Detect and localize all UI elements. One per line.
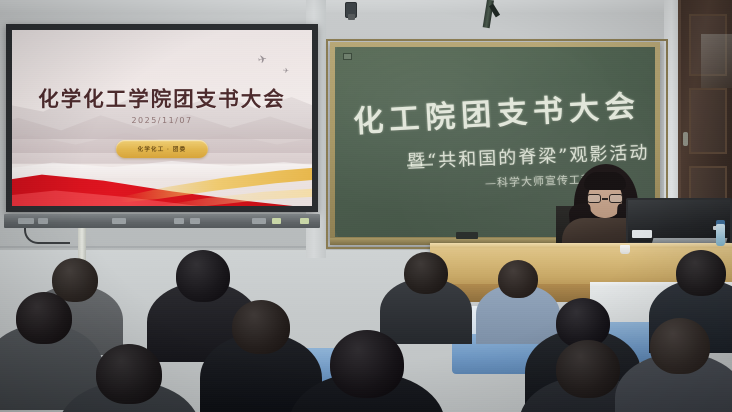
display-vol-down-button[interactable]	[174, 218, 184, 224]
display-vol-up-button[interactable]	[190, 218, 200, 224]
audience-head	[676, 250, 726, 296]
paper-cup-icon	[620, 245, 630, 254]
audience-head	[650, 318, 710, 374]
audience-head	[556, 340, 620, 398]
chalkboard-clip	[343, 53, 352, 60]
chalkboard-main-title: 化工院团支书大会	[352, 81, 642, 141]
smart-interactive-display[interactable]: 化学化工学院团支书大会 2025/11/07 化学化工 · 团委	[6, 24, 318, 212]
display-control-bar[interactable]	[4, 214, 320, 228]
audience-head	[404, 252, 448, 294]
audience-head	[498, 260, 538, 298]
bird-icon: ✈	[257, 54, 268, 67]
slide-title: 化学化工学院团支书大会	[12, 82, 312, 112]
audience-head	[232, 300, 290, 354]
audience-head	[16, 292, 72, 344]
slide-subtitle-pill: 化学化工 · 团委	[116, 140, 208, 158]
water-bottle-icon	[716, 224, 725, 246]
ceiling-strip	[0, 0, 732, 14]
door-panel-top	[689, 14, 727, 76]
display-stand	[78, 228, 86, 262]
chalkboard-underline	[407, 164, 433, 167]
display-menu-button[interactable]	[112, 218, 126, 224]
door-panel-middle	[689, 88, 727, 154]
display-status-led	[300, 218, 309, 224]
display-source-button[interactable]	[38, 218, 48, 224]
display-power-led	[272, 218, 281, 224]
eraser-icon	[456, 232, 478, 239]
lectern-edge	[430, 243, 732, 248]
bird-icon-2: ✈	[283, 68, 290, 76]
display-power-button[interactable]	[18, 218, 34, 224]
display-cable	[24, 228, 70, 244]
presenter-fringe	[584, 172, 626, 190]
door-handle[interactable]	[683, 132, 688, 146]
slide-date: 2025/11/07	[12, 116, 312, 125]
presentation-slide: 化学化工学院团支书大会 2025/11/07 化学化工 · 团委	[12, 30, 312, 206]
audience-head	[330, 330, 404, 398]
audience-head	[176, 250, 230, 302]
glasses-icon	[587, 194, 623, 203]
laptop-sticker	[632, 230, 652, 238]
display-home-button[interactable]	[252, 218, 266, 224]
door-glass	[701, 34, 732, 88]
classroom-photo: 化学化工学院团支书大会 2025/11/07 化学化工 · 团委 ✈ ✈ 化工院…	[0, 0, 732, 412]
ceiling-sensor-icon	[345, 2, 357, 18]
audience-head	[96, 344, 162, 404]
